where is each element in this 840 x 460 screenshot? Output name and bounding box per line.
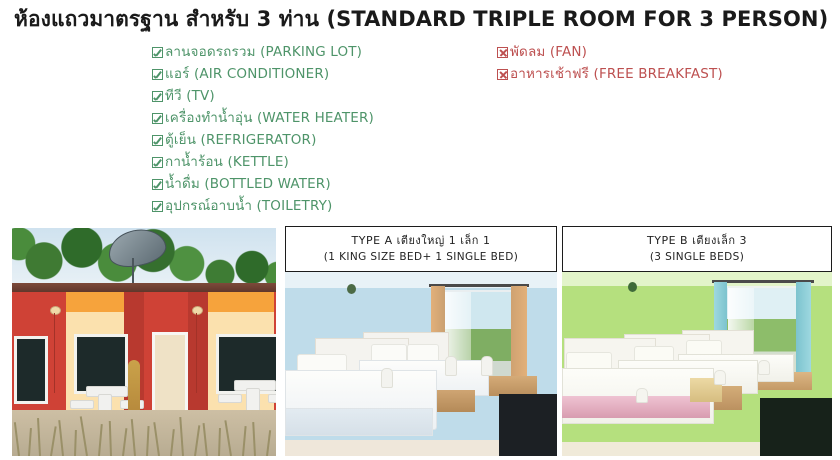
amenity-label: กาน้ำร้อน (KETTLE): [165, 151, 289, 173]
amenity-label: ทีวี (TV): [165, 85, 215, 107]
foreground-grass: [12, 410, 276, 456]
list-item: ตู้เย็น (REFRIGERATOR): [152, 129, 482, 151]
towel-roll-a: [381, 368, 393, 388]
caption-line-1: TYPE B เตียงเล็ก 3: [647, 233, 747, 249]
tree-foliage-right: [190, 242, 276, 288]
caption-type-b: TYPE B เตียงเล็ก 3 (3 SINGLE BEDS): [562, 226, 832, 272]
cross-icon: [497, 47, 508, 58]
caption-line-2: (1 KING SIZE BED+ 1 SINGLE BED): [324, 249, 518, 265]
amenity-label: น้ำดื่ม (BOTTLED WATER): [165, 173, 331, 195]
wall-decoration: [628, 282, 637, 292]
list-item: เครื่องทำน้ำอุ่น (WATER HEATER): [152, 107, 482, 129]
list-item: อุปกรณ์อาบน้ำ (TOILETRY): [152, 195, 482, 217]
photo-exterior: [12, 228, 276, 456]
caption-line-1: TYPE A เตียงใหญ่ 1 เล็ก 1: [352, 233, 491, 249]
check-icon: [152, 201, 163, 212]
wall-lamp-left: [50, 306, 61, 315]
list-item: น้ำดื่ม (BOTTLED WATER): [152, 173, 482, 195]
caption-line-2: (3 SINGLE BEDS): [650, 249, 744, 265]
check-icon: [152, 69, 163, 80]
list-item: ทีวี (TV): [152, 85, 482, 107]
check-icon: [152, 157, 163, 168]
dark-furniture: [499, 394, 557, 456]
stone-bench-right-a: [218, 394, 242, 403]
amenity-label: แอร์ (AIR CONDITIONER): [165, 63, 329, 85]
conduit-left: [54, 313, 55, 393]
bed-king-foot-runner: [285, 408, 433, 436]
amenity-label: อาหารเช้าฟรี (FREE BREAKFAST): [510, 63, 723, 85]
amenity-label: เครื่องทำน้ำอุ่น (WATER HEATER): [165, 107, 374, 129]
towel-roll-c: [758, 360, 770, 375]
towel-roll-c: [481, 356, 493, 376]
curtain-right: [511, 286, 527, 386]
curtain-right: [796, 282, 811, 380]
caption-type-a: TYPE A เตียงใหญ่ 1 เล็ก 1 (1 KING SIZE B…: [285, 226, 557, 272]
check-icon: [152, 47, 163, 58]
wall-lamp-right: [192, 306, 203, 315]
window-left: [74, 334, 128, 394]
towel-roll-b: [445, 356, 457, 376]
satellite-dish-mast: [132, 258, 134, 286]
wall-decoration: [347, 284, 356, 294]
stone-bench-left-a: [70, 400, 94, 409]
amenity-label: ตู้เย็น (REFRIGERATOR): [165, 129, 317, 151]
page-title: ห้องแถวมาตรฐาน สำหรับ 3 ท่าน (STANDARD T…: [14, 4, 826, 34]
dark-floor-area: [760, 398, 832, 456]
check-icon: [152, 91, 163, 102]
towel-roll-b: [714, 370, 726, 385]
amenities-included-list: ลานจอดรถรวม (PARKING LOT) แอร์ (AIR COND…: [152, 41, 482, 217]
door-center: [152, 332, 188, 414]
list-item: ลานจอดรถรวม (PARKING LOT): [152, 41, 482, 63]
photo-type-a-room: [285, 272, 557, 456]
check-icon: [152, 135, 163, 146]
window-far-left: [14, 336, 48, 404]
list-item: อาหารเช้าฟรี (FREE BREAKFAST): [497, 63, 827, 85]
check-icon: [152, 113, 163, 124]
ceiling: [562, 272, 832, 286]
conduit-right: [196, 313, 197, 393]
amenity-label: พัดลม (FAN): [510, 41, 587, 63]
list-item: แอร์ (AIR CONDITIONER): [152, 63, 482, 85]
list-item: พัดลม (FAN): [497, 41, 827, 63]
amenity-label: ลานจอดรถรวม (PARKING LOT): [165, 41, 362, 63]
towel-roll-a: [636, 388, 648, 403]
cross-icon: [497, 69, 508, 80]
stone-bench-right-b: [268, 394, 276, 403]
amenity-label: อุปกรณ์อาบน้ำ (TOILETRY): [165, 195, 332, 217]
list-item: กาน้ำร้อน (KETTLE): [152, 151, 482, 173]
amenities-excluded-list: พัดลม (FAN) อาหารเช้าฟรี (FREE BREAKFAST…: [497, 41, 827, 85]
check-icon: [152, 179, 163, 190]
photo-type-b-room: [562, 272, 832, 456]
